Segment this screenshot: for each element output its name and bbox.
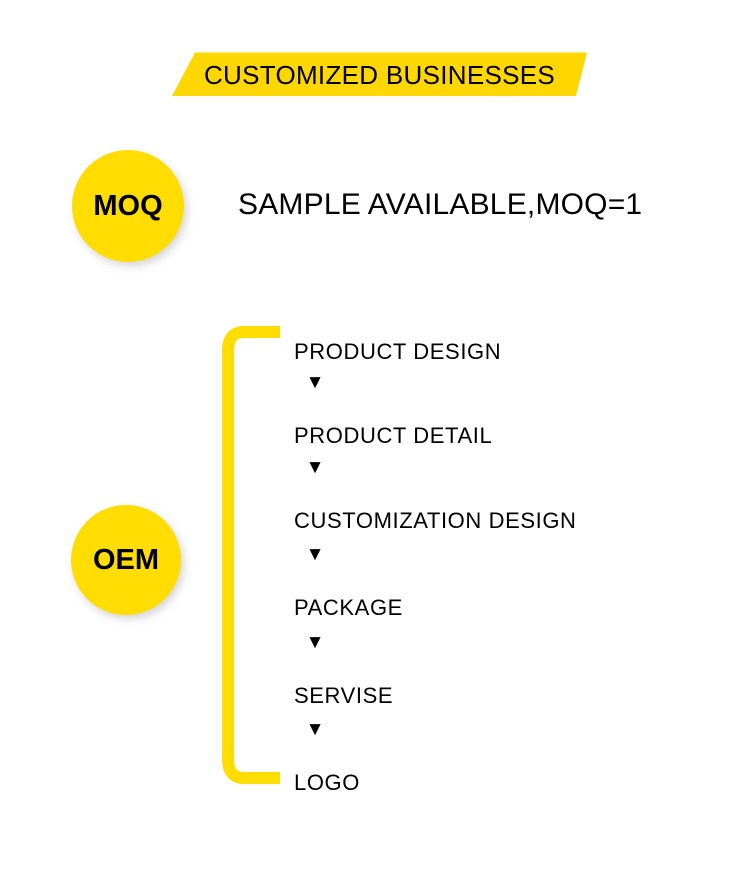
moq-headline: SAMPLE AVAILABLE,MOQ=1 <box>238 188 642 222</box>
oem-badge: OEM <box>71 505 181 615</box>
oem-badge-label: OEM <box>93 544 159 577</box>
moq-badge-label: MOQ <box>93 190 162 223</box>
flow-step-servise: SERVISE <box>294 683 393 709</box>
flow-step-product-detail: PRODUCT DETAIL <box>294 423 492 449</box>
chevron-down-icon: ▼ <box>304 458 326 477</box>
flow-step-logo: LOGO <box>294 770 360 796</box>
poster-canvas: CUSTOMIZED BUSINESSES MOQ SAMPLE AVAILAB… <box>0 0 750 878</box>
chevron-down-icon: ▼ <box>304 545 326 564</box>
banner: CUSTOMIZED BUSINESSES <box>165 50 590 100</box>
flow-step-product-design: PRODUCT DESIGN <box>294 339 501 365</box>
chevron-down-icon: ▼ <box>304 373 326 392</box>
moq-badge: MOQ <box>72 150 184 262</box>
oem-flow-list: PRODUCT DESIGN ▼ PRODUCT DETAIL ▼ CUSTOM… <box>294 322 694 792</box>
chevron-down-icon: ▼ <box>304 633 326 652</box>
banner-title: CUSTOMIZED BUSINESSES <box>165 50 590 100</box>
bracket-shape <box>222 325 286 785</box>
oem-bracket <box>222 325 286 785</box>
chevron-down-icon: ▼ <box>304 720 326 739</box>
flow-step-package: PACKAGE <box>294 595 403 621</box>
flow-step-customization-design: CUSTOMIZATION DESIGN <box>294 508 577 534</box>
